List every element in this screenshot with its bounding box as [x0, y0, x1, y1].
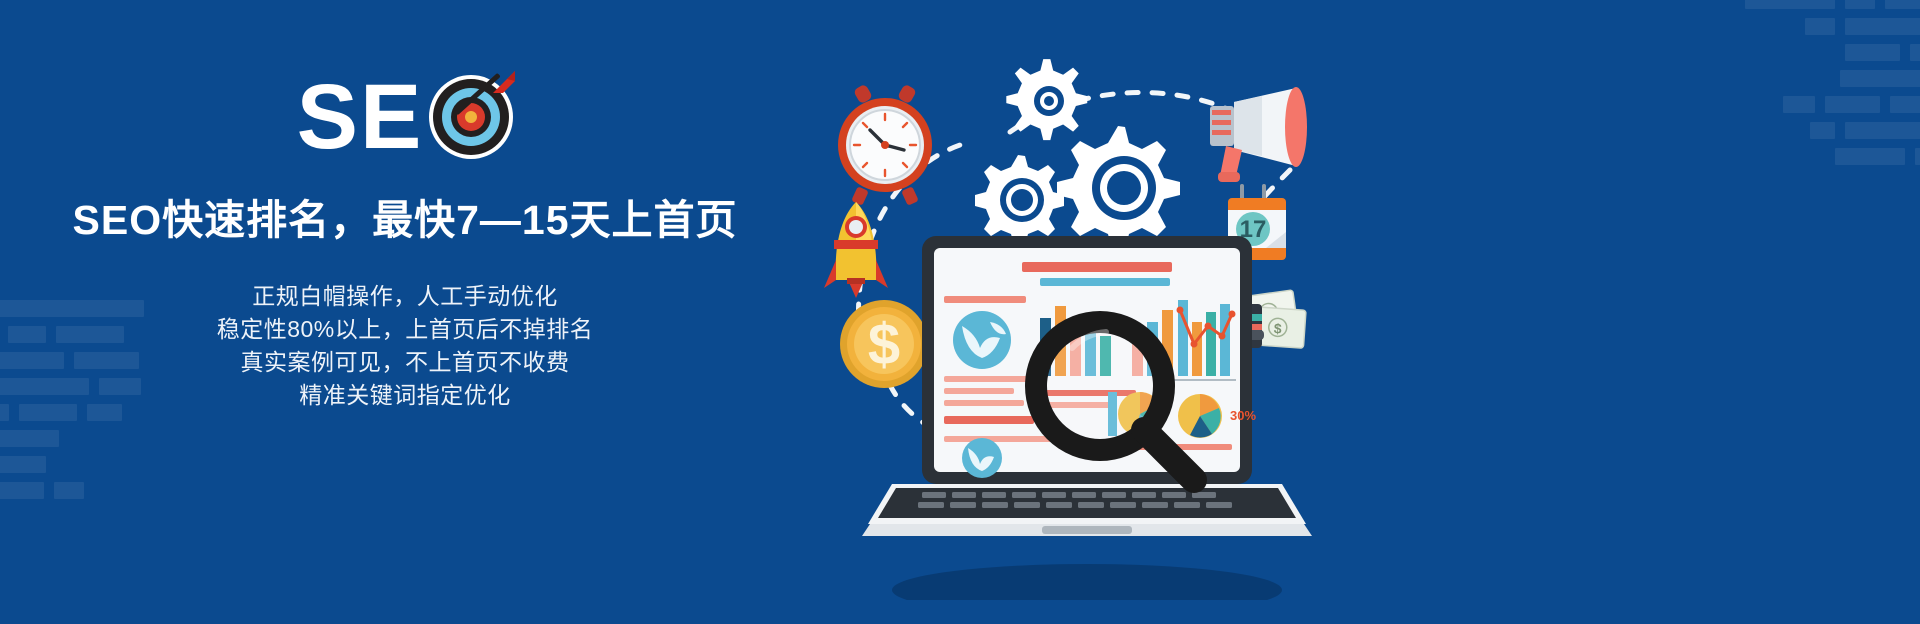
code-decor-bar [0, 456, 46, 473]
code-decor-bar [1845, 0, 1875, 9]
dollar-sign-label: $ [868, 312, 900, 377]
seo-logo-letters: SE [297, 74, 424, 160]
code-decor-bar [1910, 44, 1920, 61]
page-title: SEO快速排名，最快7—15天上首页 [73, 186, 738, 246]
code-decor-bar [54, 482, 84, 499]
globe-icon-2 [962, 438, 1002, 478]
seo-promo-banner: SE SEO快速排名，最快7—15天上首页 正规白帽操作，人工手动优化 稳定性8… [0, 0, 1920, 624]
arrow-head-icon [491, 69, 517, 95]
svg-text:$: $ [1273, 320, 1282, 337]
feature-line-1: 正规白帽操作，人工手动优化 [252, 280, 558, 313]
code-decor-bar [0, 482, 44, 499]
code-decor-bar [1840, 70, 1920, 87]
code-decor-bar [1745, 0, 1835, 9]
code-decor-bar [1845, 122, 1920, 139]
seo-logo: SE [297, 74, 514, 160]
target-bullseye-icon [429, 75, 513, 159]
code-decor-row [1810, 122, 1920, 139]
feature-line-3: 真实案例可见，不上首页不收费 [240, 346, 569, 379]
code-decor-bar [1885, 0, 1920, 9]
megaphone-icon [1210, 87, 1307, 182]
feature-line-4: 精准关键词指定优化 [299, 379, 511, 412]
code-decor-bar [1890, 96, 1920, 113]
code-decor-row [1783, 96, 1920, 113]
code-decor-row [0, 456, 56, 473]
seo-illustration: 17 $ $ [820, 40, 1380, 600]
code-decor-right [1745, 0, 1920, 174]
code-decor-bar [1915, 148, 1920, 165]
code-decor-bar [0, 430, 59, 447]
dollar-coin-icon: $ [840, 300, 928, 388]
code-decor-bar [1783, 96, 1815, 113]
code-decor-bar [1845, 44, 1900, 61]
alarm-clock-icon [838, 84, 932, 206]
code-decor-row [1840, 70, 1920, 87]
gears-icon [975, 59, 1180, 250]
feature-line-2: 稳定性80%以上，上首页后不掉排名 [217, 313, 594, 346]
code-decor-bar [1825, 96, 1880, 113]
code-decor-row [1745, 0, 1920, 9]
code-decor-bar [1805, 18, 1835, 35]
code-decor-row [1805, 18, 1920, 35]
text-column: SE SEO快速排名，最快7—15天上首页 正规白帽操作，人工手动优化 稳定性8… [0, 74, 810, 412]
code-decor-row [1835, 148, 1920, 165]
code-decor-bar [1835, 148, 1905, 165]
pie-percent-label: 30% [1230, 408, 1256, 423]
code-decor-row [1845, 44, 1920, 61]
globe-icon-1 [953, 311, 1011, 369]
feature-list: 正规白帽操作，人工手动优化 稳定性80%以上，上首页后不掉排名 真实案例可见，不… [217, 280, 594, 412]
code-decor-row [0, 430, 69, 447]
code-decor-bar [1810, 122, 1835, 139]
code-decor-bar [1845, 18, 1920, 35]
code-decor-row [0, 482, 94, 499]
